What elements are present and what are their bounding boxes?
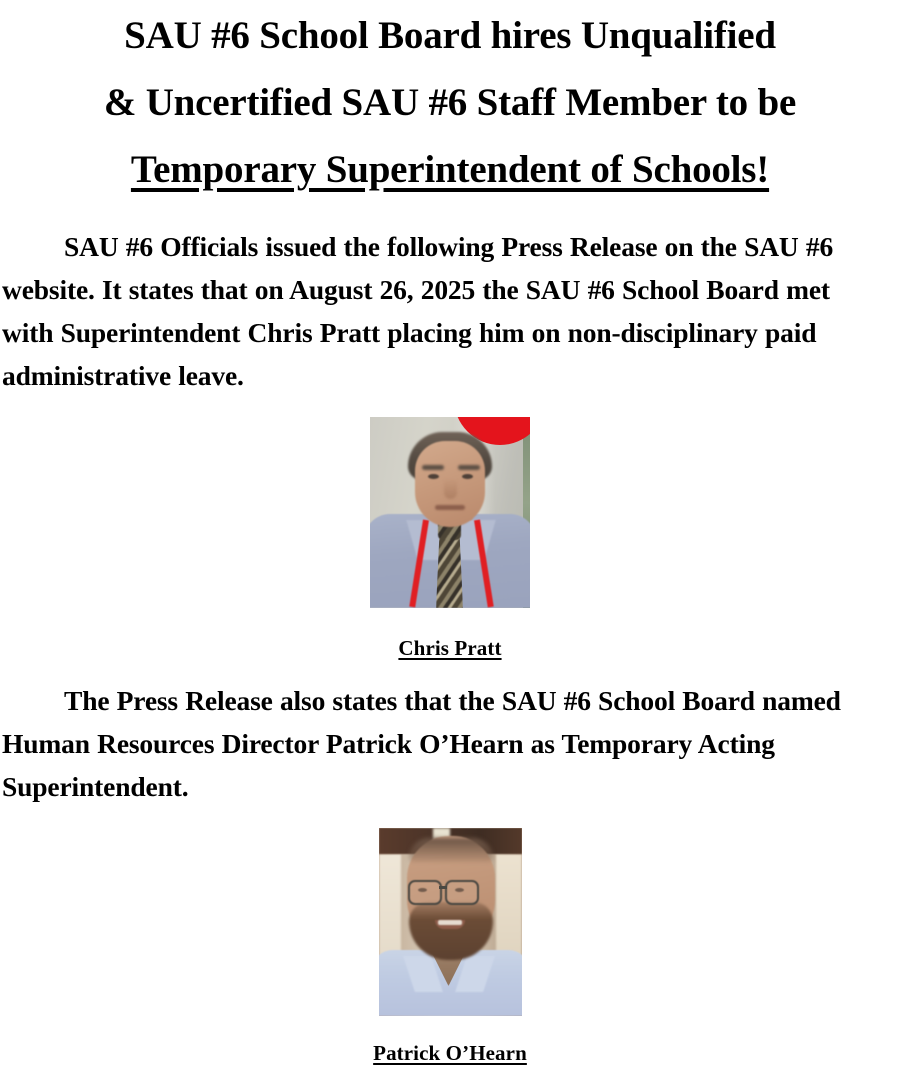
photo-mouth [435,505,465,510]
photo-eyeglasses-right-lens [445,880,479,905]
photo-eyebrow-right [458,465,480,470]
photo-teeth [438,920,462,925]
figure-chris-pratt: Chris Pratt [0,417,900,660]
photo-eyeglasses-left-lens [408,880,442,905]
photo-eye-left [428,474,439,479]
headline-line-1: SAU #6 School Board hires Unqualified [0,2,900,69]
paragraph-acting-superintendent: The Press Release also states that the S… [0,679,900,808]
photo-eye-right [462,474,473,479]
portrait-chris-pratt-image [370,417,530,608]
figure-patrick-ohearn: Patrick O’Hearn [0,828,900,1065]
photo-nose [444,479,457,499]
caption-chris-pratt: Chris Pratt [0,636,900,660]
page-title: SAU #6 School Board hires Unqualified & … [0,0,900,203]
caption-patrick-ohearn: Patrick O’Hearn [0,1041,900,1065]
photo-eyeglasses-bridge [439,886,447,889]
flyer-page: SAU #6 School Board hires Unqualified & … [0,0,900,1078]
paragraph-press-release-intro: SAU #6 Officials issued the following Pr… [0,225,900,397]
photo-hair [409,838,493,862]
headline-line-2: & Uncertified SAU #6 Staff Member to be [0,69,900,136]
photo-eyebrow-left [422,465,444,470]
headline-line-3: Temporary Superintendent of Schools! [0,136,900,203]
portrait-patrick-ohearn-image [379,828,522,1016]
